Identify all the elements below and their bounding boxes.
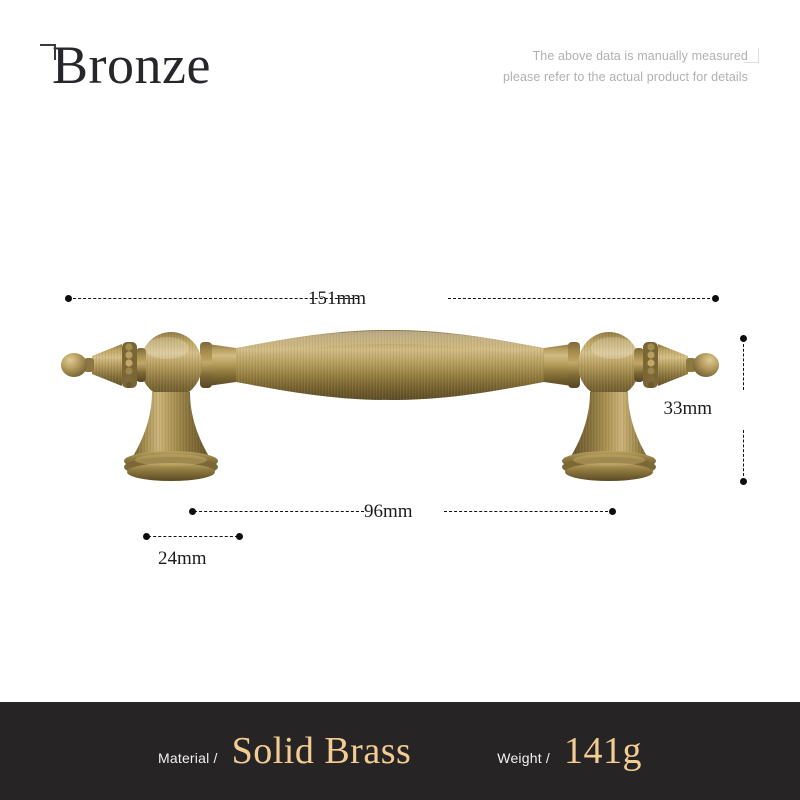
page-title: Bronze xyxy=(52,34,211,96)
dimension-overall-length xyxy=(60,290,730,308)
corner-mark-top-left xyxy=(40,44,56,60)
beaded-collar-right xyxy=(643,342,658,388)
dimension-line-segment xyxy=(194,511,364,512)
product-spec-page: Bronze The above data is manually measur… xyxy=(0,0,800,800)
spec-material-value: Solid Brass xyxy=(232,731,412,771)
dimension-label-base-width: 24mm xyxy=(158,548,207,570)
disclaimer-line-2: please refer to the actual product for d… xyxy=(503,67,748,88)
dimension-label-overall-length: 151mm xyxy=(308,288,366,310)
spec-weight: Weight / 141g xyxy=(497,731,642,771)
corner-mark-top-right xyxy=(744,48,759,63)
spec-material: Material / Solid Brass xyxy=(158,731,411,771)
dimension-label-center-to-center: 96mm xyxy=(364,501,413,523)
dimension-endpoint-right xyxy=(236,533,243,540)
disclaimer-text: The above data is manually measured plea… xyxy=(503,46,748,88)
product-image-brass-handle xyxy=(40,320,740,500)
spec-footer-bar: Material / Solid Brass Weight / 141g xyxy=(0,702,800,800)
handle-base-left xyxy=(124,392,218,481)
handle-base-right xyxy=(562,392,656,481)
dimension-endpoint-bottom xyxy=(740,478,747,485)
dimension-endpoint-top xyxy=(740,335,747,342)
dimension-base-width xyxy=(138,528,250,546)
dimension-line-segment xyxy=(444,511,608,512)
disclaimer-line-1: The above data is manually measured xyxy=(503,46,748,67)
dimension-line-segment xyxy=(148,536,238,537)
spec-material-label: Material / xyxy=(158,750,218,766)
handle-center-bar xyxy=(236,330,544,400)
beaded-collar-left xyxy=(122,342,137,388)
dimension-line-segment xyxy=(448,298,710,299)
dimension-endpoint-right xyxy=(609,508,616,515)
dimension-label-projection-height: 33mm xyxy=(663,398,712,420)
dimension-endpoint-right xyxy=(712,295,719,302)
dimension-line-segment xyxy=(743,344,744,390)
handle-left-assembly xyxy=(61,332,236,481)
dimension-projection-height xyxy=(735,330,753,490)
spec-weight-value: 141g xyxy=(564,731,642,771)
spec-weight-label: Weight / xyxy=(497,750,550,766)
dimension-line-segment xyxy=(743,430,744,476)
